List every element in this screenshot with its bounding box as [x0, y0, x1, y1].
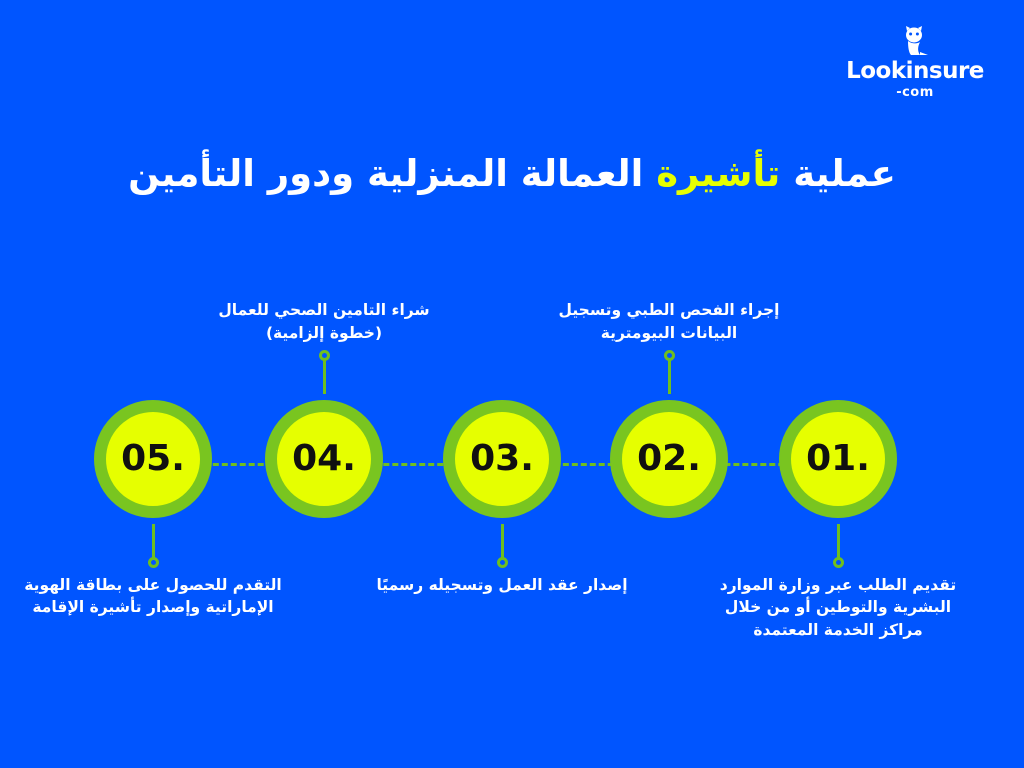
stem-up-icon — [668, 356, 671, 394]
knob-icon — [664, 350, 675, 361]
caption-wrap-02: إجراء الفحص الطبي وتسجيل البيانات البيوم… — [539, 280, 799, 344]
step-caption-05: التقدم للحصول على بطاقة الهوية الإماراتي… — [23, 574, 283, 619]
title-part-after: العمالة المنزلية ودور التأمين — [128, 152, 656, 195]
step-number: 02. — [637, 441, 701, 477]
timeline-node-02[interactable]: 02. إجراء الفحص الطبي وتسجيل البيانات ال… — [610, 400, 728, 518]
title-part-before: عملية — [780, 152, 896, 195]
step-number: 05. — [121, 441, 185, 477]
step-caption-02: إجراء الفحص الطبي وتسجيل البيانات البيوم… — [539, 299, 799, 344]
page-title: عملية تأشيرة العمالة المنزلية ودور التأم… — [0, 152, 1024, 195]
timeline: 05. التقدم للحصول على بطاقة الهوية الإما… — [0, 400, 1024, 530]
knob-icon — [148, 557, 159, 568]
caption-wrap-01: تقديم الطلب عبر وزارة الموارد البشرية وا… — [708, 574, 968, 664]
step-caption-04: شراء التامين الصحي للعمال (خطوة إلزامية) — [194, 299, 454, 344]
stem-up-icon — [323, 356, 326, 394]
step-caption-03: إصدار عقد العمل وتسجيله رسميًا — [372, 574, 632, 596]
knob-icon — [319, 350, 330, 361]
brand-name: Lookinsure — [840, 60, 990, 83]
owl-mascot-icon — [898, 26, 932, 56]
caption-wrap-05: التقدم للحصول على بطاقة الهوية الإماراتي… — [23, 574, 283, 664]
caption-wrap-03: إصدار عقد العمل وتسجيله رسميًا — [372, 574, 632, 664]
knob-icon — [497, 557, 508, 568]
knob-icon — [833, 557, 844, 568]
step-caption-01: تقديم الطلب عبر وزارة الموارد البشرية وا… — [708, 574, 968, 641]
timeline-node-03[interactable]: 03. إصدار عقد العمل وتسجيله رسميًا — [443, 400, 561, 518]
step-number: 03. — [470, 441, 534, 477]
brand-tld: -com — [840, 83, 990, 103]
step-number: 01. — [806, 441, 870, 477]
title-highlight: تأشيرة — [656, 152, 780, 195]
caption-wrap-04: شراء التامين الصحي للعمال (خطوة إلزامية) — [194, 280, 454, 344]
brand-logo: Lookinsure -com — [840, 26, 990, 103]
timeline-node-04[interactable]: 04. شراء التامين الصحي للعمال (خطوة إلزا… — [265, 400, 383, 518]
timeline-node-05[interactable]: 05. التقدم للحصول على بطاقة الهوية الإما… — [94, 400, 212, 518]
step-number: 04. — [292, 441, 356, 477]
timeline-node-01[interactable]: 01. تقديم الطلب عبر وزارة الموارد البشري… — [779, 400, 897, 518]
